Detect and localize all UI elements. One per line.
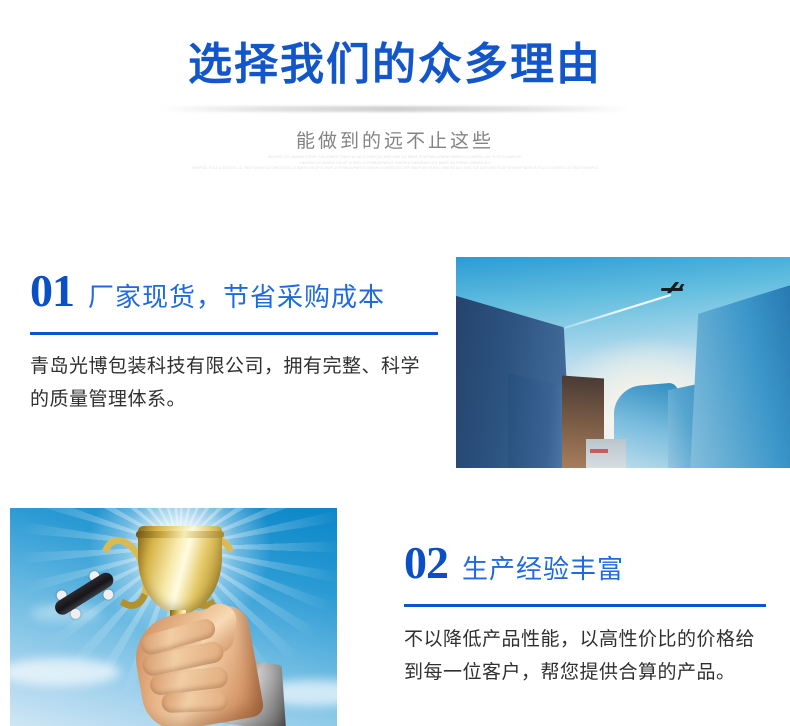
contrail [551, 293, 671, 331]
feature-heading-02: 02 生产经验丰富 [404, 540, 766, 586]
feature-section-02: 02 生产经验丰富 不以降低产品性能，以高性价比的价格给到每一位客户，帮您提供合… [404, 540, 766, 689]
feature-title-01: 厂家现货，节省采购成本 [88, 284, 385, 310]
plane-tail [679, 284, 685, 289]
feature-body-02: 不以降低产品性能，以高性价比的价格给到每一位客户，帮您提供合算的产品。 [404, 623, 766, 689]
page-header: 选择我们的众多理由 能做到的远不止这些 WUGFHE GOD BUWOK DVE… [0, 0, 790, 190]
buildings-photo [456, 257, 790, 468]
feature-number-02: 02 [404, 540, 448, 586]
building-signage [590, 449, 608, 453]
building-right-tower [688, 279, 790, 468]
feature-number-01: 01 [30, 268, 74, 314]
feature-divider-01 [30, 332, 438, 335]
promo-page: 选择我们的众多理由 能做到的远不止这些 WUGFHE GOD BUWOK DVE… [0, 0, 790, 726]
title-divider [160, 106, 630, 112]
trophy-photo [10, 508, 337, 726]
feature-title-02: 生产经验丰富 [462, 556, 624, 582]
feature-section-01: 01 厂家现货，节省采购成本 青岛光博包装科技有限公司，拥有完整、科学的质量管理… [30, 268, 440, 416]
building-low-rise [586, 439, 626, 468]
feature-heading-01: 01 厂家现货，节省采购成本 [30, 268, 440, 314]
decorative-microtext: WUGFHE GOD BUWOK DVEWF GUD ERWOP TEWOPKL… [0, 155, 790, 172]
airplane-icon [661, 283, 683, 295]
finger [161, 691, 228, 713]
page-title: 选择我们的众多理由 [0, 40, 790, 91]
feature-divider-02 [404, 604, 766, 607]
page-subtitle: 能做到的远不止这些 [0, 126, 790, 153]
trophy-rim-inner [136, 531, 224, 538]
microtext-line: SWOPGEL POLE O WOEDIS LIO TWOP DIWOPLUI … [0, 166, 790, 172]
feature-body-01: 青岛光博包装科技有限公司，拥有完整、科学的质量管理体系。 [30, 350, 430, 416]
